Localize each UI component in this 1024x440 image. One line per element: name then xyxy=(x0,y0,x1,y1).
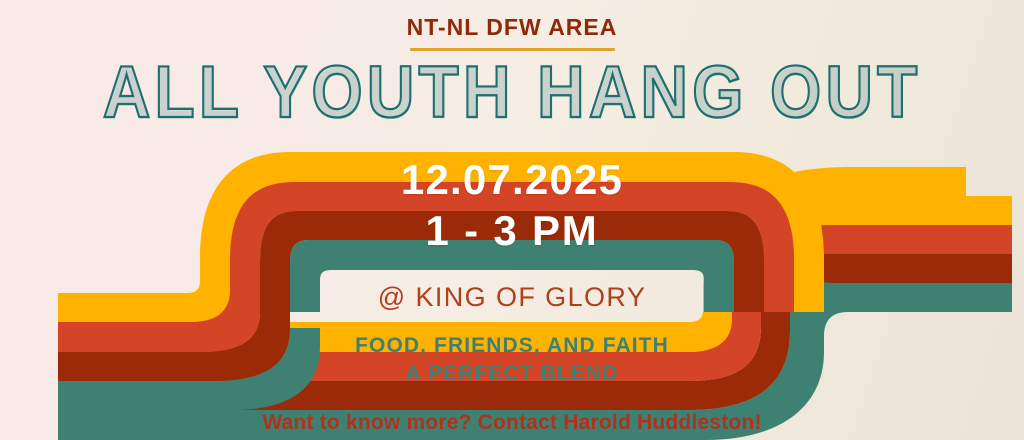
tagline-line-1: FOOD, FRIENDS, AND FAITH xyxy=(0,332,1024,360)
contact-block: Want to know more? Contact Harold Huddle… xyxy=(0,411,1024,435)
venue-block: @ KING OF GLORY xyxy=(0,282,1024,313)
event-flyer: NT-NL DFW AREA ALL YOUTH HANG OUT 12.07.… xyxy=(0,0,1024,440)
page-title: ALL YOUTH HANG OUT xyxy=(103,57,922,130)
datetime-block: 12.07.2025 1 - 3 PM xyxy=(0,155,1024,258)
event-venue: @ KING OF GLORY xyxy=(0,282,1024,313)
tagline-line-2: A PERFECT BLEND xyxy=(0,360,1024,388)
contact-text: Want to know more? Contact Harold Huddle… xyxy=(0,411,1024,435)
kicker-block: NT-NL DFW AREA xyxy=(0,14,1024,51)
event-date: 12.07.2025 xyxy=(0,155,1024,204)
flyer-text-layer: NT-NL DFW AREA ALL YOUTH HANG OUT 12.07.… xyxy=(0,0,1024,440)
tagline-block: FOOD, FRIENDS, AND FAITH A PERFECT BLEND xyxy=(0,332,1024,388)
kicker-divider xyxy=(410,48,615,51)
event-time: 1 - 3 PM xyxy=(0,204,1024,258)
kicker-text: NT-NL DFW AREA xyxy=(407,14,618,41)
headline-block: ALL YOUTH HANG OUT xyxy=(0,57,1024,119)
